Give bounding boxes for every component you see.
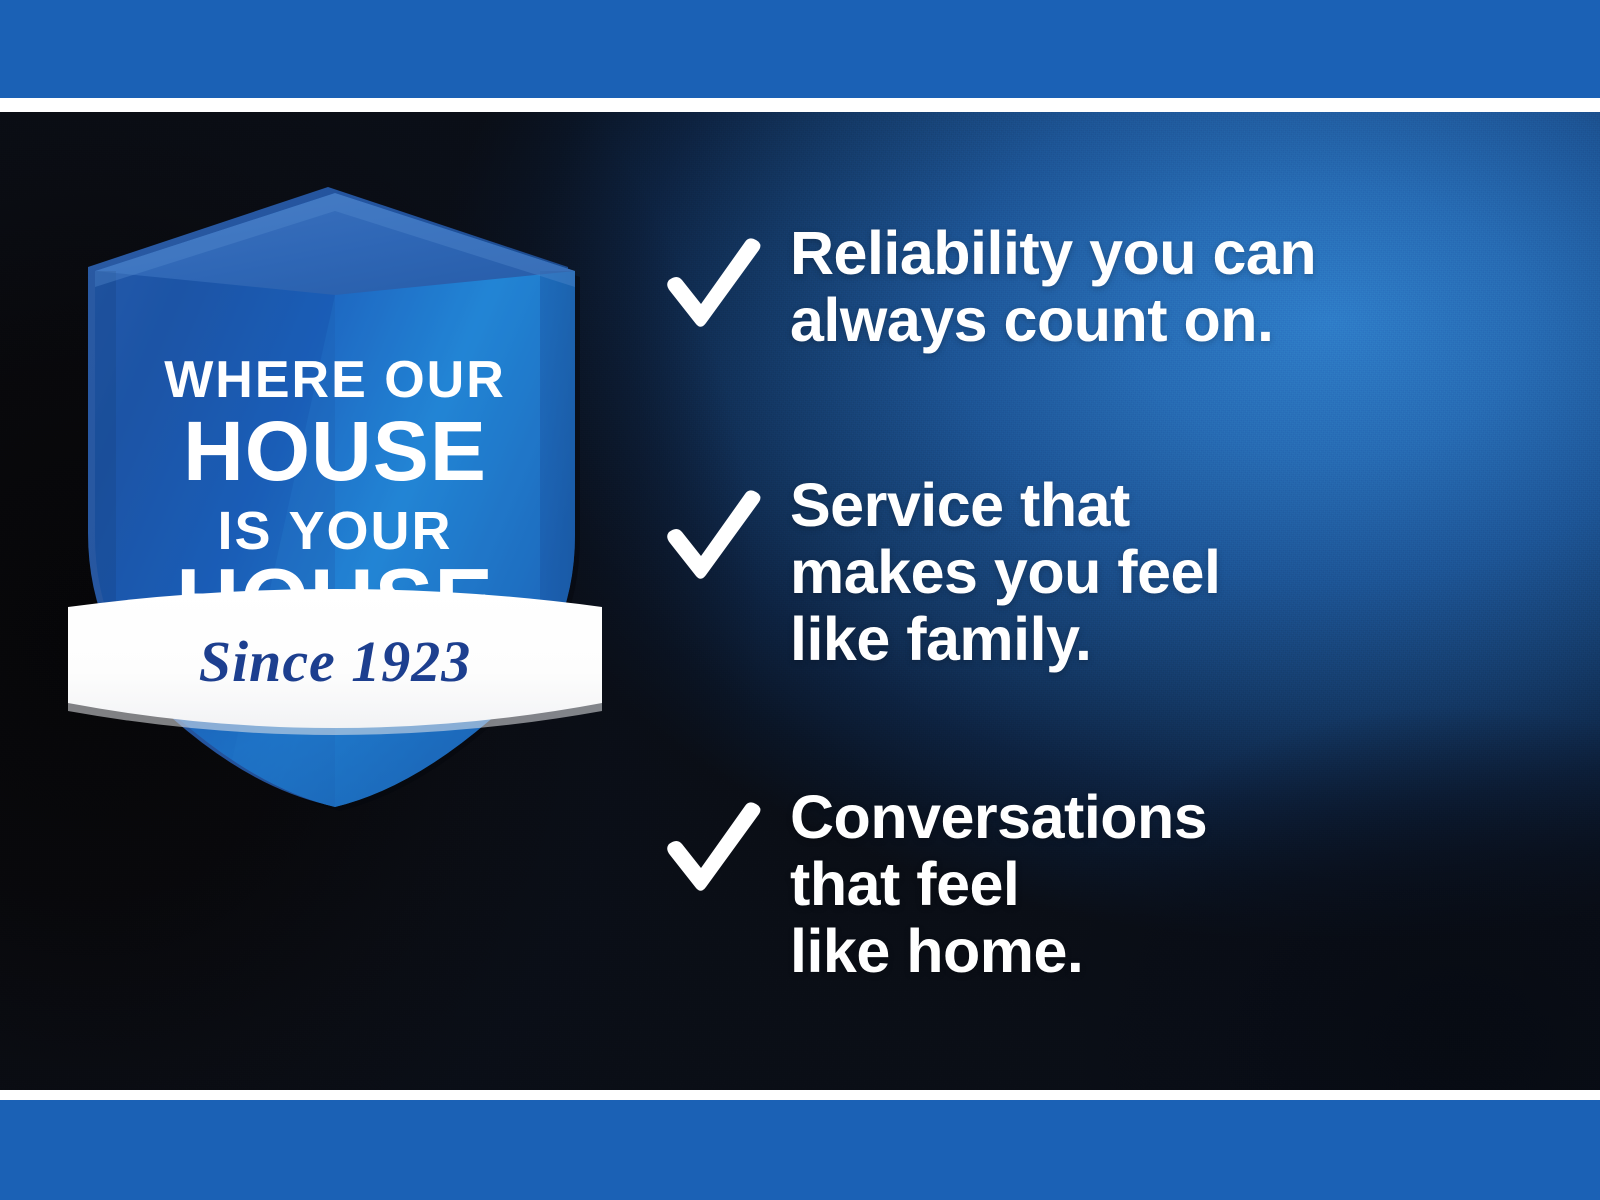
promo-graphic: WHERE OUR HOUSE IS YOUR HOUSE Since 1923…	[0, 0, 1600, 1200]
benefit-item: Reliability you can always count on.	[660, 220, 1316, 354]
top-white-divider	[0, 98, 1600, 112]
benefits-list: Reliability you can always count on. Ser…	[660, 112, 1540, 1090]
benefit-item: Service that makes you feel like family.	[660, 472, 1220, 673]
checkmark-icon	[660, 220, 790, 330]
badge-ribbon-text: Since 1923	[199, 629, 472, 694]
checkmark-icon	[660, 784, 790, 894]
brand-badge: WHERE OUR HOUSE IS YOUR HOUSE Since 1923	[70, 175, 600, 815]
badge-line-2: HOUSE	[183, 404, 487, 498]
badge-line-1: WHERE OUR	[164, 351, 506, 409]
badge-ribbon: Since 1923	[68, 589, 602, 735]
benefit-text: Service that makes you feel like family.	[790, 472, 1220, 673]
benefit-text: Conversations that feel like home.	[790, 784, 1207, 985]
benefit-text: Reliability you can always count on.	[790, 220, 1316, 354]
top-brand-bar	[0, 0, 1600, 98]
bottom-brand-bar	[0, 1100, 1600, 1200]
checkmark-icon	[660, 472, 790, 582]
benefit-item: Conversations that feel like home.	[660, 784, 1207, 985]
bottom-white-divider	[0, 1090, 1600, 1100]
badge-right-bevel	[540, 271, 580, 831]
